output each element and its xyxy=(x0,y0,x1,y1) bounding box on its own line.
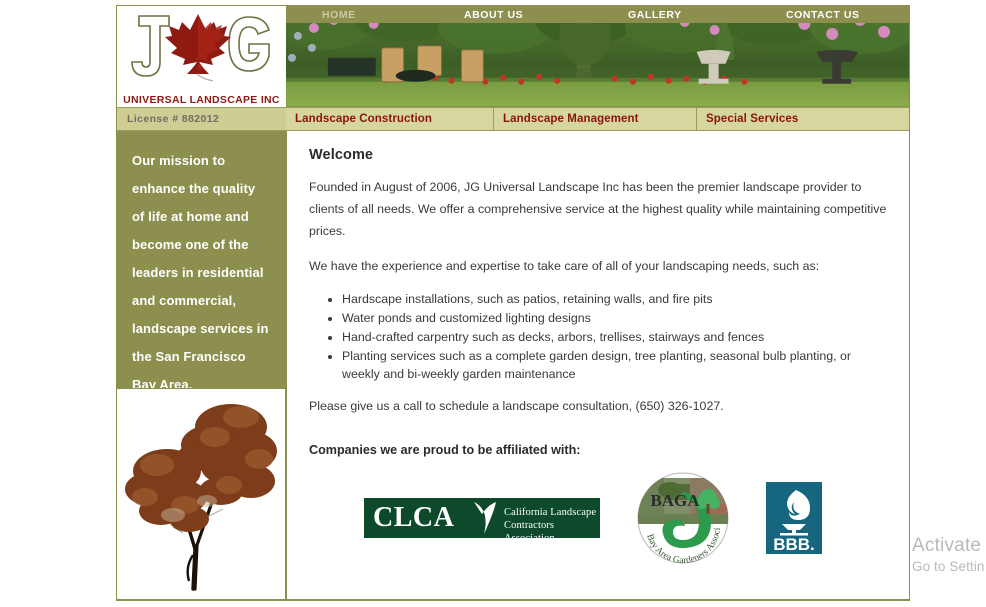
watermark-line-2: Go to Settin xyxy=(912,558,986,576)
bbb-logo[interactable]: BBB. xyxy=(766,482,822,554)
license-bar: License # 882012 xyxy=(117,107,286,131)
bbb-torch-icon: BBB. xyxy=(766,482,822,554)
affiliate-logos: CLCA California Landscape Contractors As… xyxy=(309,470,891,566)
clca-swoosh-icon xyxy=(472,500,498,536)
nav-item-contact-us[interactable]: CONTACT US xyxy=(786,9,860,21)
list-item: Hand-crafted carpentry such as decks, ar… xyxy=(342,328,891,346)
baga-logo[interactable]: Bay Area Gardeners Association BAGA xyxy=(634,470,732,566)
jg-logo-icon xyxy=(117,8,286,86)
subnav-item-landscape-construction[interactable]: Landscape Construction xyxy=(286,108,494,130)
page-title: Welcome xyxy=(309,147,891,163)
license-number: License # 882012 xyxy=(127,113,219,125)
watermark-line-1: Activate xyxy=(912,533,986,558)
nav-item-gallery[interactable]: GALLERY xyxy=(628,9,682,21)
subnav-link-special-services[interactable]: Special Services xyxy=(706,113,798,125)
clca-subtitle-line2: Contractors Association xyxy=(504,519,600,538)
baga-acronym: BAGA xyxy=(650,491,700,510)
main-content: Welcome Founded in August of 2006, JG Un… xyxy=(286,131,909,599)
windows-activation-watermark: Activate Go to Settin xyxy=(912,533,986,576)
subnav-item-special-services[interactable]: Special Services xyxy=(697,108,909,130)
header-banner-photo: HOME ABOUT US GALLERY CONTACT US xyxy=(286,6,909,107)
website-page: UNIVERSAL LANDSCAPE INC xyxy=(116,5,910,601)
clca-subtitle-line1: California Landscape xyxy=(504,506,600,519)
list-item: Water ponds and customized lighting desi… xyxy=(342,309,891,327)
site-header: UNIVERSAL LANDSCAPE INC xyxy=(117,6,909,107)
services-list: Hardscape installations, such as patios,… xyxy=(342,290,891,383)
sidebar: Our mission to enhance the quality of li… xyxy=(117,131,286,599)
tree-icon xyxy=(123,393,285,591)
services-lead-in: We have the experience and expertise to … xyxy=(309,255,891,277)
baga-seal-icon: Bay Area Gardeners Association BAGA xyxy=(634,470,732,566)
nav-item-about-us[interactable]: ABOUT US xyxy=(464,9,523,21)
affiliations-heading: Companies we are proud to be affiliated … xyxy=(309,443,891,457)
mission-statement: Our mission to enhance the quality of li… xyxy=(132,147,271,399)
clca-logo[interactable]: CLCA California Landscape Contractors As… xyxy=(364,498,600,538)
clca-subtitle: California Landscape Contractors Associa… xyxy=(504,506,600,538)
secondary-navigation[interactable]: Landscape Construction Landscape Managem… xyxy=(286,107,909,131)
bbb-letters: BBB. xyxy=(773,535,815,554)
page-body: Our mission to enhance the quality of li… xyxy=(117,131,909,599)
nav-item-home[interactable]: HOME xyxy=(322,9,356,21)
logo-tagline: UNIVERSAL LANDSCAPE INC xyxy=(117,94,286,106)
screen: UNIVERSAL LANDSCAPE INC xyxy=(0,0,986,607)
subnav-item-landscape-management[interactable]: Landscape Management xyxy=(494,108,697,130)
subnav-link-landscape-construction[interactable]: Landscape Construction xyxy=(295,113,432,125)
site-logo[interactable]: UNIVERSAL LANDSCAPE INC xyxy=(117,6,286,107)
intro-paragraph: Founded in August of 2006, JG Universal … xyxy=(309,176,891,242)
subnav-link-landscape-management[interactable]: Landscape Management xyxy=(503,113,639,125)
primary-navigation[interactable]: HOME ABOUT US GALLERY CONTACT US xyxy=(286,6,909,23)
list-item: Planting services such as a complete gar… xyxy=(342,347,891,383)
mission-panel: Our mission to enhance the quality of li… xyxy=(117,131,286,388)
sidebar-tree-image xyxy=(117,388,286,599)
consultation-paragraph: Please give us a call to schedule a land… xyxy=(309,395,891,417)
list-item: Hardscape installations, such as patios,… xyxy=(342,290,891,308)
license-and-subnav-row: License # 882012 Landscape Construction … xyxy=(117,107,909,131)
clca-letters: CLCA xyxy=(373,503,454,533)
